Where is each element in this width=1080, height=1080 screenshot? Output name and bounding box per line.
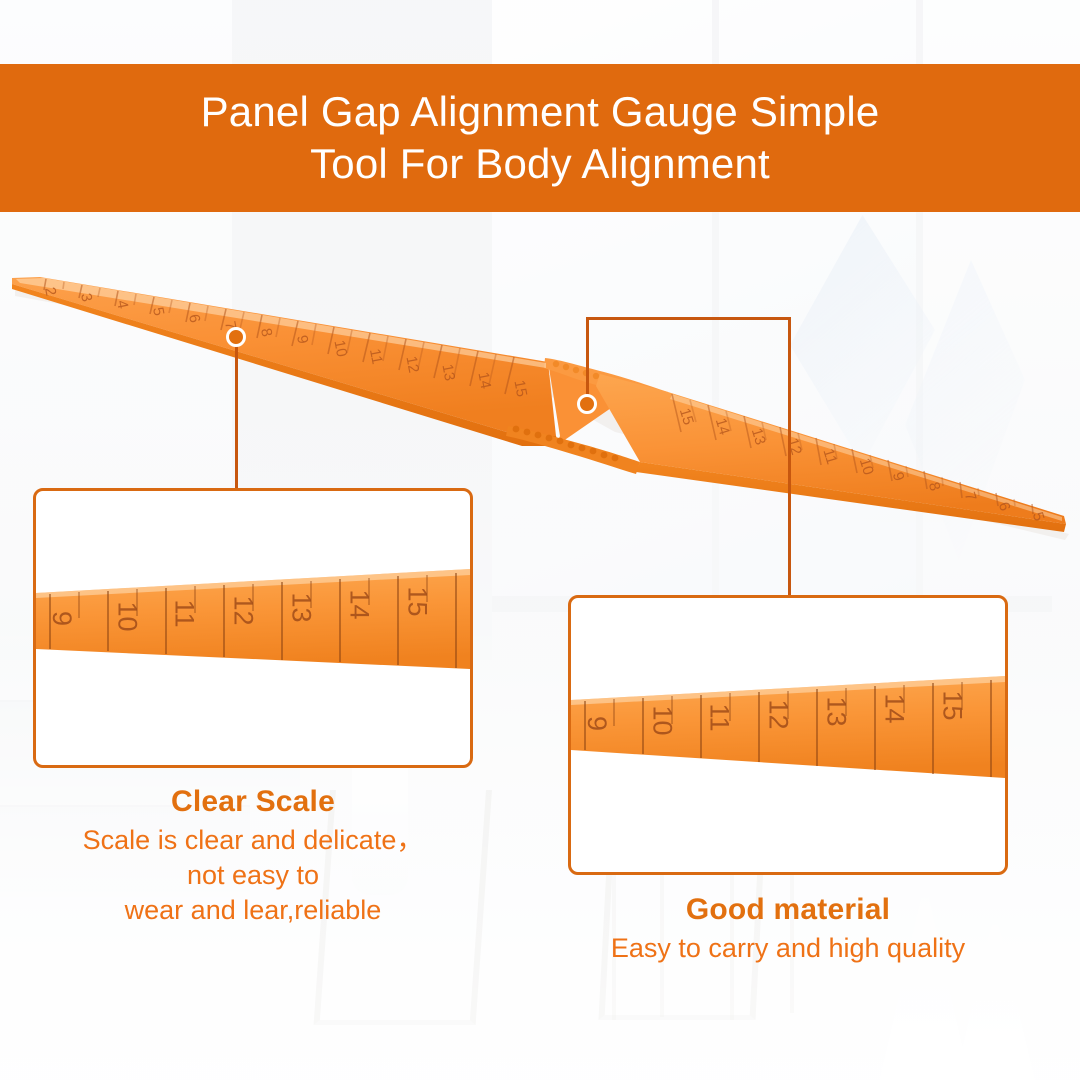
leader-line-left bbox=[235, 344, 238, 490]
title-line-1: Panel Gap Alignment Gauge Simple bbox=[201, 86, 880, 138]
detail-tick-label: 13 bbox=[821, 696, 852, 726]
caption-body-line: Scale is clear and delicate， bbox=[83, 825, 424, 855]
detail-tick-label: 14 bbox=[879, 693, 910, 723]
title-banner: Panel Gap Alignment Gauge Simple Tool Fo… bbox=[0, 64, 1080, 212]
gauge-left-tick-label: 15 bbox=[510, 379, 530, 399]
caption-body-line: Easy to carry and high quality bbox=[611, 933, 965, 963]
gauge-left-blade bbox=[12, 277, 556, 436]
gauge-left-tick-label: 14 bbox=[474, 371, 494, 391]
caption-body-line: wear and lear,reliable bbox=[125, 895, 382, 925]
leader-line-right-across bbox=[586, 317, 791, 320]
gauge-left-tick-label: 10 bbox=[330, 339, 350, 359]
detail-tick-label: 11 bbox=[704, 703, 735, 731]
detail-tick-label: 9 bbox=[581, 716, 612, 731]
infographic-canvas: Panel Gap Alignment Gauge Simple Tool Fo… bbox=[0, 0, 1080, 1080]
caption-good-material: Good material Easy to carry and high qua… bbox=[568, 893, 1008, 966]
detail-tick-label: 15 bbox=[402, 586, 433, 616]
caption-body-clear-scale: Scale is clear and delicate， not easy to… bbox=[33, 823, 473, 928]
gauge-left-tick-label: 12 bbox=[402, 355, 422, 375]
detail-tick-label: 14 bbox=[344, 589, 375, 619]
detail-wedge-left: 9 10 11 12 13 14 15 bbox=[36, 491, 470, 765]
anchor-dot-left bbox=[226, 327, 246, 347]
detail-tick-label: 12 bbox=[763, 699, 794, 729]
leader-line-right-down bbox=[788, 317, 791, 597]
caption-body-good-material: Easy to carry and high quality bbox=[568, 931, 1008, 966]
caption-heading-good-material: Good material bbox=[568, 893, 1008, 927]
gauge-left-tick-label: 11 bbox=[366, 347, 386, 366]
callout-box-good-material: 9 10 11 12 13 14 15 bbox=[568, 595, 1008, 875]
detail-tick-label: 9 bbox=[46, 611, 77, 626]
detail-tick-label: 10 bbox=[647, 705, 678, 735]
caption-body-line: not easy to bbox=[187, 860, 319, 890]
title-line-2: Tool For Body Alignment bbox=[310, 138, 770, 190]
detail-wedge-left-svg bbox=[36, 491, 470, 765]
detail-tick-label: 13 bbox=[286, 592, 317, 622]
callout-box-clear-scale: 9 10 11 12 13 14 15 bbox=[33, 488, 473, 768]
leader-line-right-up bbox=[586, 318, 589, 404]
caption-heading-clear-scale: Clear Scale bbox=[33, 785, 473, 819]
caption-clear-scale: Clear Scale Scale is clear and delicate，… bbox=[33, 785, 473, 928]
gauge-left-tick-label: 13 bbox=[438, 363, 458, 383]
detail-tick-label: 12 bbox=[228, 595, 259, 625]
detail-wedge-right-svg bbox=[571, 598, 1005, 872]
detail-wedge-right: 9 10 11 12 13 14 15 bbox=[571, 598, 1005, 872]
anchor-dot-right bbox=[577, 394, 597, 414]
detail-tick-label: 15 bbox=[937, 690, 968, 720]
detail-tick-label: 10 bbox=[112, 601, 143, 631]
detail-tick-label: 11 bbox=[169, 599, 200, 627]
